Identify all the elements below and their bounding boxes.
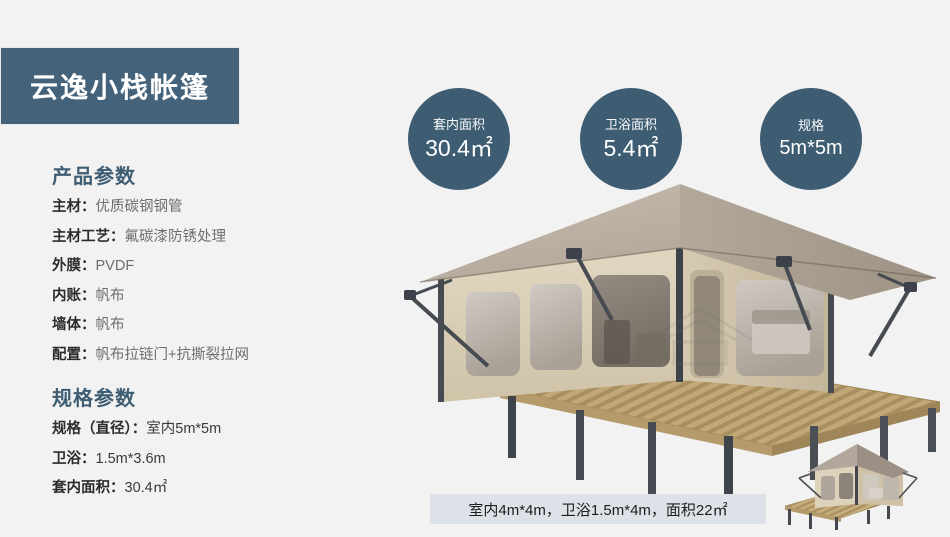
specifications-column: 产品参数 主材：优质碳钢钢管 主材工艺：氟碳漆防锈处理 外膜：PVDF 内账：帆…	[52, 166, 382, 522]
spec-value: 帆布	[96, 288, 125, 304]
spec-value: 帆布拉链门+抗撕裂拉网	[96, 347, 249, 363]
spec-label: 外膜：	[52, 258, 96, 274]
spec-label: 主材：	[52, 199, 96, 215]
spec-value: 1.5m*3.6m	[96, 451, 166, 467]
page-root: 云逸小栈帐篷 产品参数 主材：优质碳钢钢管 主材工艺：氟碳漆防锈处理 外膜：PV…	[0, 0, 950, 534]
spec-row: 墙体：帆布	[52, 318, 382, 333]
spec-params-heading: 规格参数	[52, 388, 382, 410]
spec-params-list: 规格（直径）：室内5m*5m 卫浴：1.5m*3.6m 套内面积：30.4㎡	[52, 422, 382, 496]
spec-row: 内账：帆布	[52, 289, 382, 304]
spec-value: 氟碳漆防锈处理	[125, 229, 227, 245]
spec-value: 30.4㎡	[125, 480, 168, 496]
badge-label: 规格	[798, 119, 824, 133]
spec-value: 优质碳钢钢管	[96, 199, 183, 215]
badge-label: 套内面积	[433, 118, 485, 132]
product-params-heading: 产品参数	[52, 166, 382, 188]
title-banner: 云逸小栈帐篷	[0, 47, 240, 125]
spec-label: 卫浴：	[52, 451, 96, 467]
badge-value: 5.4㎡	[604, 136, 659, 160]
badge-value: 5m*5m	[779, 138, 842, 159]
spec-value: 帆布	[96, 317, 125, 333]
spec-row: 规格（直径）：室内5m*5m	[52, 422, 382, 437]
page-title: 云逸小栈帐篷	[30, 66, 210, 106]
spec-row: 套内面积：30.4㎡	[52, 481, 382, 496]
spec-label: 套内面积：	[52, 480, 125, 496]
badge-label: 卫浴面积	[605, 118, 657, 132]
spec-label: 内账：	[52, 288, 96, 304]
spec-label: 主材工艺：	[52, 229, 125, 245]
tent-thumbnail	[775, 440, 940, 532]
spec-value: PVDF	[96, 258, 135, 274]
product-params-list: 主材：优质碳钢钢管 主材工艺：氟碳漆防锈处理 外膜：PVDF 内账：帆布 墙体：…	[52, 200, 382, 362]
spec-label: 规格（直径）：	[52, 421, 146, 437]
spec-row: 外膜：PVDF	[52, 259, 382, 274]
spec-label: 墙体：	[52, 317, 96, 333]
caption-bar: 室内4m*4m，卫浴1.5m*4m，面积22㎡	[430, 494, 766, 524]
caption-text: 室内4m*4m，卫浴1.5m*4m，面积22㎡	[468, 499, 727, 520]
spec-row: 主材工艺：氟碳漆防锈处理	[52, 230, 382, 245]
spec-row: 主材：优质碳钢钢管	[52, 200, 382, 215]
badge-value: 30.4㎡	[425, 136, 493, 160]
spec-row: 配置：帆布拉链门+抗撕裂拉网	[52, 348, 382, 363]
spec-value: 室内5m*5m	[146, 421, 221, 437]
spec-label: 配置：	[52, 347, 96, 363]
spec-row: 卫浴：1.5m*3.6m	[52, 452, 382, 467]
